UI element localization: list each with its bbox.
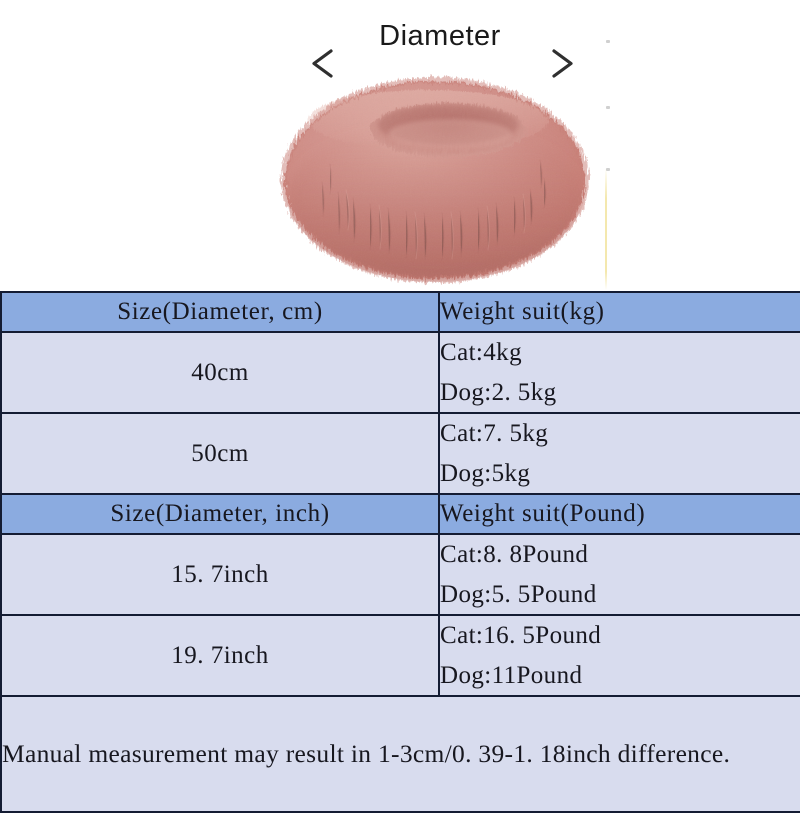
size-chart-page: Diameter xyxy=(0,0,800,800)
dog-weight: Dog:2. 5kg xyxy=(440,373,800,413)
cat-weight: Cat:7. 5kg xyxy=(440,414,800,454)
cat-weight: Cat:16. 5Pound xyxy=(440,616,800,656)
size-value: 19. 7inch xyxy=(1,615,439,696)
round-fluffy-pet-bed-image xyxy=(278,72,593,287)
scan-artifact-line xyxy=(605,168,607,290)
table-header-row-inch: Size(Diameter, inch) Weight suit(Pound) xyxy=(1,494,800,534)
weight-value: Cat:16. 5Pound Dog:11Pound xyxy=(439,615,800,696)
scan-speck xyxy=(606,168,610,171)
dog-weight: Dog:5kg xyxy=(440,454,800,494)
product-photo-area: Diameter xyxy=(0,0,800,291)
weight-value: Cat:7. 5kg Dog:5kg xyxy=(439,413,800,494)
scan-speck xyxy=(606,40,610,43)
scan-speck xyxy=(606,106,610,109)
header-size-inch: Size(Diameter, inch) xyxy=(1,494,439,534)
header-size-cm: Size(Diameter, cm) xyxy=(1,292,439,332)
table-row: 50cm Cat:7. 5kg Dog:5kg xyxy=(1,413,800,494)
size-chart-table: Size(Diameter, cm) Weight suit(kg) 40cm … xyxy=(0,291,800,813)
table-row: 19. 7inch Cat:16. 5Pound Dog:11Pound xyxy=(1,615,800,696)
table-row: 15. 7inch Cat:8. 8Pound Dog:5. 5Pound xyxy=(1,534,800,615)
table-row: 40cm Cat:4kg Dog:2. 5kg xyxy=(1,332,800,413)
weight-value: Cat:4kg Dog:2. 5kg xyxy=(439,332,800,413)
measurement-note-row: Manual measurement may result in 1-3cm/0… xyxy=(1,696,800,812)
size-value: 40cm xyxy=(1,332,439,413)
diameter-label-text: Diameter xyxy=(379,22,501,51)
dog-weight: Dog:11Pound xyxy=(440,656,800,696)
measurement-note: Manual measurement may result in 1-3cm/0… xyxy=(1,696,800,812)
header-weight-kg: Weight suit(kg) xyxy=(439,292,800,332)
diameter-label: Diameter xyxy=(0,22,800,51)
weight-value: Cat:8. 8Pound Dog:5. 5Pound xyxy=(439,534,800,615)
size-value: 50cm xyxy=(1,413,439,494)
cat-weight: Cat:8. 8Pound xyxy=(440,535,800,575)
header-weight-pound: Weight suit(Pound) xyxy=(439,494,800,534)
size-value: 15. 7inch xyxy=(1,534,439,615)
table-header-row-cm: Size(Diameter, cm) Weight suit(kg) xyxy=(1,292,800,332)
cat-weight: Cat:4kg xyxy=(440,333,800,373)
dog-weight: Dog:5. 5Pound xyxy=(440,575,800,615)
